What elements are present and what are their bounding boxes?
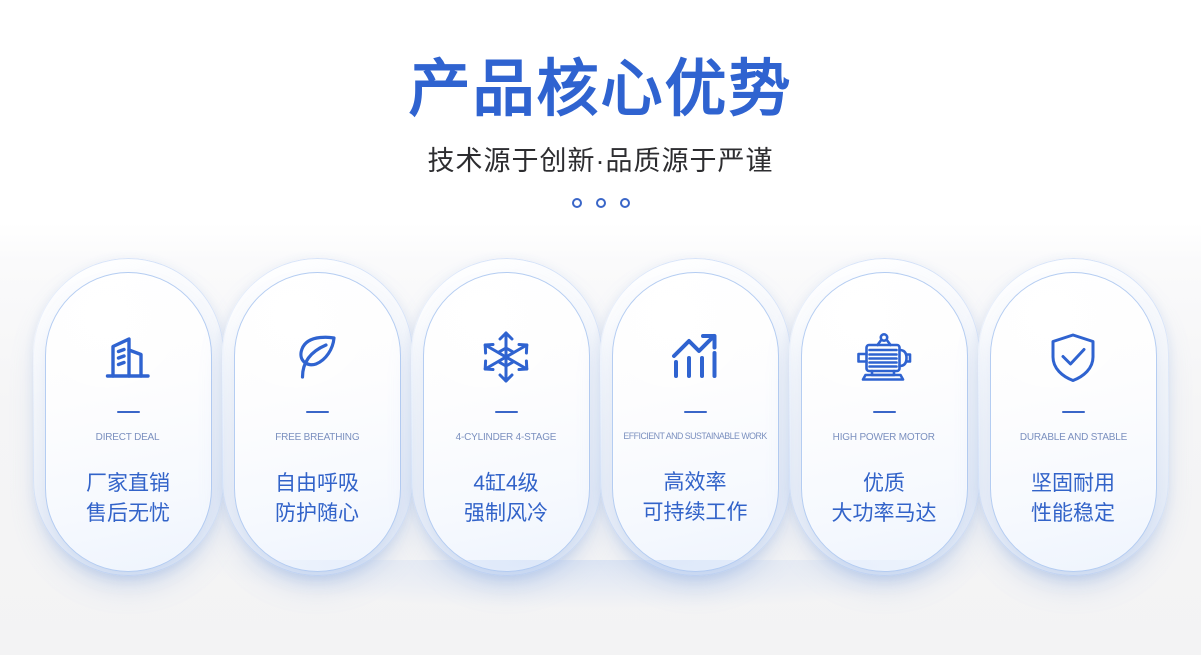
electric-motor-icon <box>853 327 915 387</box>
advantage-card-row: DIRECT DEAL 厂家直销 售后无忧 FREE BREATHING 自由呼… <box>0 272 1201 572</box>
card-en-label: EFFICIENT AND SUSTAINABLE WORK <box>623 431 766 442</box>
advantage-card-durable-stable[interactable]: DURABLE AND STABLE 坚固耐用 性能稳定 <box>990 272 1157 572</box>
card-divider <box>495 411 518 413</box>
page-header: 产品核心优势 技术源于创新·品质源于严谨 <box>0 0 1201 208</box>
advantage-card-free-breathing[interactable]: FREE BREATHING 自由呼吸 防护随心 <box>234 272 401 572</box>
card-en-label: FREE BREATHING <box>275 431 359 443</box>
card-en-label: HIGH POWER MOTOR <box>833 431 935 443</box>
card-divider <box>117 411 140 413</box>
advantage-card-high-power-motor[interactable]: HIGH POWER MOTOR 优质 大功率马达 <box>801 272 968 572</box>
card-cn-line2: 强制风冷 <box>464 499 548 529</box>
dot-icon <box>596 198 606 208</box>
card-divider <box>306 411 329 413</box>
growth-chart-icon <box>666 327 724 387</box>
card-cn-line1: 厂家直销 <box>86 469 170 499</box>
leaf-icon <box>290 327 344 387</box>
card-en-label: 4-CYLINDER 4-STAGE <box>456 431 557 443</box>
office-building-icon <box>99 327 157 387</box>
card-divider <box>684 411 707 413</box>
advantage-card-direct-deal[interactable]: DIRECT DEAL 厂家直销 售后无忧 <box>45 272 212 572</box>
card-cn-line2: 性能稳定 <box>1031 499 1115 529</box>
card-divider <box>1062 411 1085 413</box>
advantage-card-4-cylinder[interactable]: 4-CYLINDER 4-STAGE 4缸4级 强制风冷 <box>423 272 590 572</box>
snowflake-icon <box>478 327 534 387</box>
card-cn-line2: 防护随心 <box>275 499 359 529</box>
dot-icon <box>620 198 630 208</box>
card-divider <box>873 411 896 413</box>
shield-check-icon <box>1046 327 1100 387</box>
card-cn-line2: 售后无忧 <box>86 499 170 529</box>
card-cn-line2: 大功率马达 <box>832 499 937 529</box>
decorative-dots <box>0 198 1201 208</box>
card-cn-line1: 坚固耐用 <box>1031 469 1115 499</box>
page-title: 产品核心优势 <box>0 57 1201 124</box>
card-en-label: DIRECT DEAL <box>96 431 160 443</box>
advantage-card-efficient-work[interactable]: EFFICIENT AND SUSTAINABLE WORK 高效率 可持续工作 <box>612 272 779 572</box>
card-cn-line1: 高效率 <box>664 468 727 498</box>
card-en-label: DURABLE AND STABLE <box>1019 431 1126 443</box>
card-cn-line2: 可持续工作 <box>643 498 748 528</box>
page-subtitle: 技术源于创新·品质源于严谨 <box>0 139 1201 178</box>
card-cn-line1: 自由呼吸 <box>275 469 359 499</box>
card-cn-line1: 4缸4级 <box>473 469 538 499</box>
dot-icon <box>572 198 582 208</box>
card-cn-line1: 优质 <box>863 469 905 499</box>
